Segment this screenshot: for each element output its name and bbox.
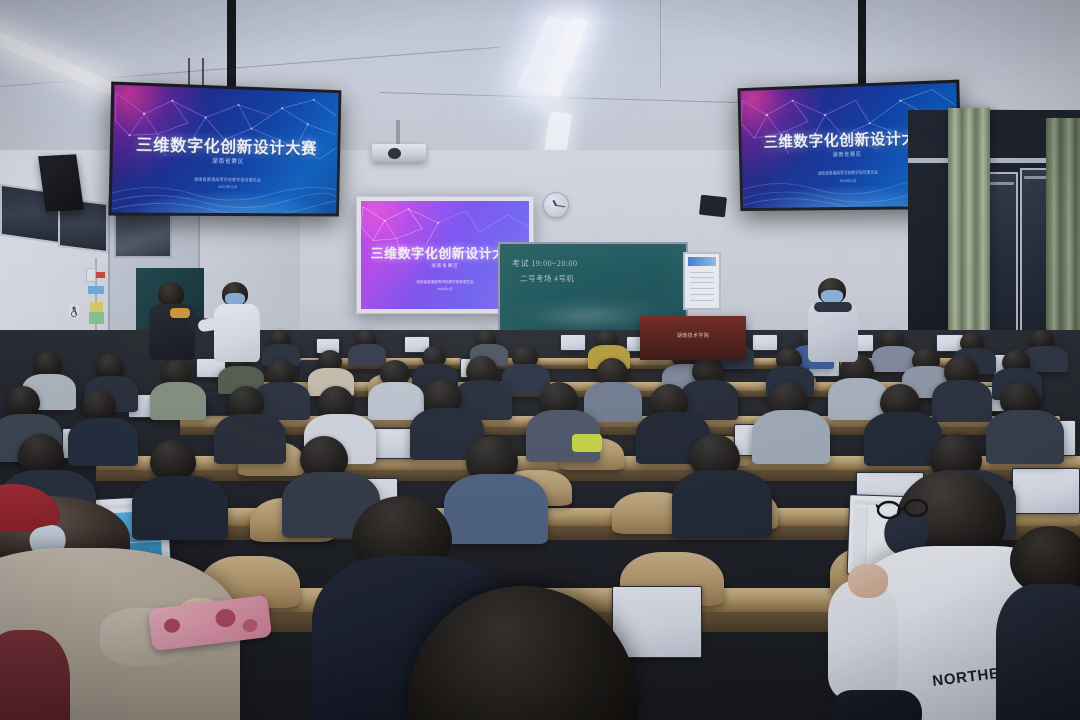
accessibility-icon bbox=[68, 304, 80, 318]
student-arm bbox=[828, 580, 898, 700]
proctor-collar bbox=[814, 302, 852, 312]
laptop-screen bbox=[1012, 468, 1080, 514]
clock-hour-hand bbox=[552, 200, 556, 206]
slide-wave-graphic bbox=[112, 169, 337, 214]
projector-mount-arm bbox=[396, 120, 400, 146]
student-laptop[interactable] bbox=[560, 334, 586, 351]
laptop-screen bbox=[752, 334, 778, 351]
laptop-screen bbox=[612, 586, 702, 658]
student-body bbox=[996, 584, 1080, 720]
blackboard-line: 考试 19:00~20:00 bbox=[512, 258, 578, 269]
floor-seating-area: NORTHE EAST bbox=[0, 330, 1080, 720]
student-body bbox=[752, 410, 830, 464]
student-body bbox=[132, 476, 228, 540]
accessibility-sign-icon bbox=[68, 304, 80, 318]
student-body bbox=[150, 382, 206, 420]
presenter-scarf bbox=[170, 308, 190, 318]
presenter-head bbox=[158, 282, 184, 306]
mouse-pad-dot bbox=[242, 618, 258, 633]
tv-ceiling-mount bbox=[227, 0, 236, 92]
student-bag bbox=[572, 434, 602, 452]
student-laptop[interactable] bbox=[752, 334, 778, 351]
cad-sidebar bbox=[852, 507, 868, 567]
wall-sticker bbox=[96, 272, 105, 278]
student-body bbox=[368, 382, 424, 420]
wall-sticker bbox=[89, 312, 104, 324]
blackboard-line: 二号考场 4号机 bbox=[520, 273, 574, 284]
projector-lens-icon bbox=[388, 148, 401, 159]
presenter-torso bbox=[214, 304, 260, 362]
student-body bbox=[214, 414, 286, 464]
ceiling-seam bbox=[660, 0, 661, 88]
student-laptop[interactable] bbox=[612, 586, 702, 658]
chalk-smudge bbox=[530, 304, 640, 330]
student-head bbox=[82, 390, 116, 420]
wall-speaker bbox=[699, 195, 727, 218]
tv-screen-content: 三维数字化创新设计大赛 湖南省赛区 湖南省普通高等学校教学指导委员会 2022年… bbox=[112, 85, 339, 214]
student-body bbox=[584, 382, 642, 422]
tv-ceiling-mount bbox=[858, 0, 866, 88]
eyeglasses-icon bbox=[876, 496, 932, 522]
podium-label: 湖南技术学院 bbox=[648, 332, 738, 339]
student-head bbox=[6, 386, 40, 416]
student-sleeve-cuff bbox=[830, 690, 922, 720]
student-body bbox=[932, 380, 992, 422]
student-body bbox=[672, 470, 772, 538]
student-body bbox=[986, 410, 1064, 464]
student-hand bbox=[848, 564, 888, 598]
clock-minute-hand bbox=[556, 205, 565, 208]
student-body bbox=[444, 474, 548, 544]
student-body bbox=[68, 418, 138, 466]
notice-header bbox=[688, 257, 716, 266]
wall-speaker bbox=[38, 154, 84, 211]
student-head bbox=[150, 440, 196, 480]
wall-sticker bbox=[88, 286, 104, 294]
classroom-scene: 三维数字化创新设计大赛 湖南省赛区 湖南省普通高等学校教学指导委员会 2022年… bbox=[0, 0, 1080, 720]
wall-clock bbox=[543, 192, 569, 218]
left-wall-tv[interactable]: 三维数字化创新设计大赛 湖南省赛区 湖南省普通高等学校教学指导委员会 2022年… bbox=[108, 81, 341, 216]
mouse-pad-dot bbox=[163, 618, 181, 634]
laptop-screen bbox=[560, 334, 586, 351]
student-body bbox=[0, 630, 70, 720]
light-switch-box[interactable] bbox=[86, 268, 96, 282]
student-head bbox=[18, 434, 64, 474]
notice-board bbox=[683, 252, 721, 310]
student-laptop[interactable] bbox=[1012, 468, 1080, 514]
student-body bbox=[348, 344, 386, 366]
mouse-pad-dot bbox=[214, 608, 236, 628]
